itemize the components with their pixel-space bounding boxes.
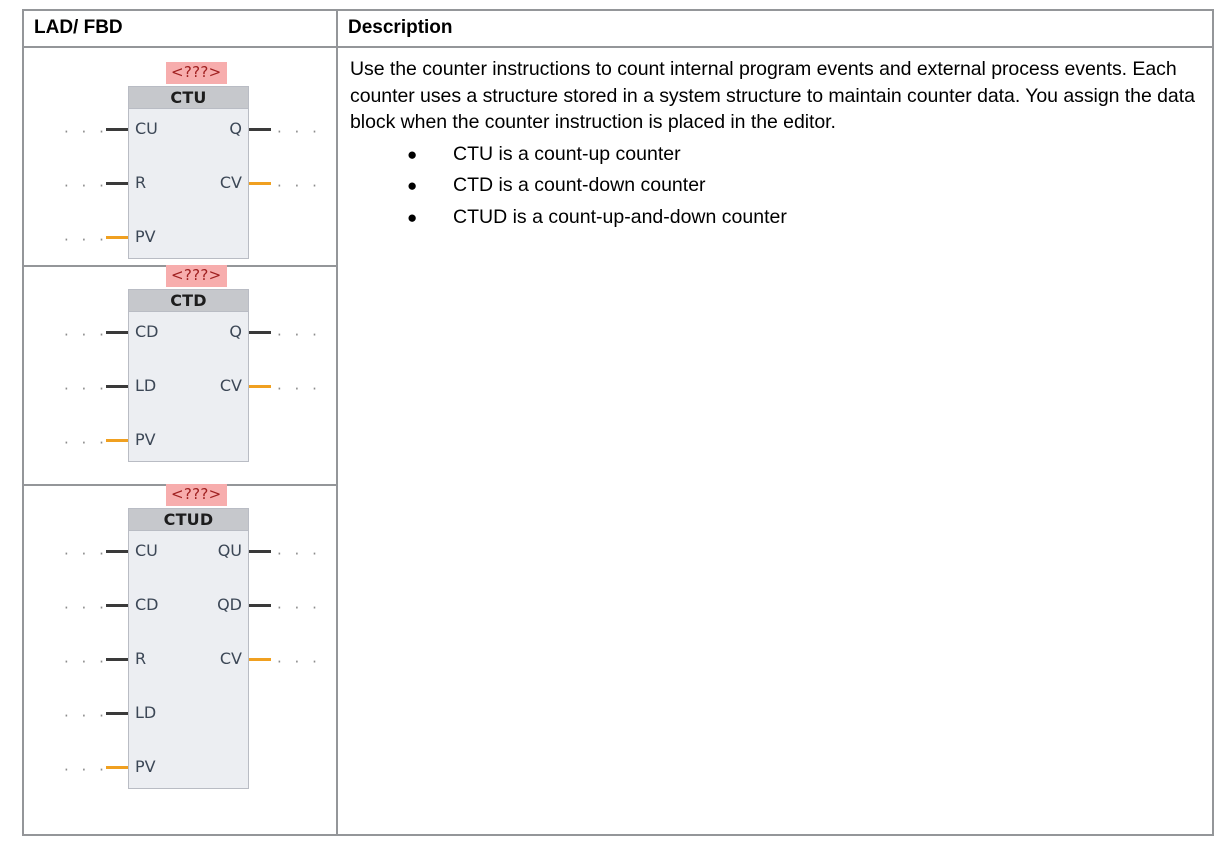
pin-label-cu: CU (135, 121, 158, 137)
block-title: CTD (129, 290, 248, 312)
block-instance-tag[interactable]: <???> (166, 62, 227, 84)
table-row-ctu: <???>CTUCU· · ·R· · ·PV· · ·Q· · ·CV· · … (24, 47, 1212, 266)
table-header-row: LAD/ FBD Description (24, 11, 1212, 47)
block-title: CTU (129, 87, 248, 109)
connection-leader-dots: · · · (277, 184, 321, 188)
counter-type-list-item: ●CTD is a count-down counter (350, 170, 1198, 202)
bullet-icon: ● (407, 170, 417, 202)
pin-label-pv: PV (135, 229, 156, 245)
block-instance-tag[interactable]: <???> (166, 484, 227, 506)
lad-cell-ctud: <???>CTUDCU· · ·CD· · ·R· · ·LD· · ·PV· … (24, 485, 337, 834)
pin-label-qu: QU (218, 543, 242, 559)
counter-type-list-item: ●CTUD is a count-up-and-down counter (350, 202, 1198, 234)
pin-label-q: Q (229, 324, 242, 340)
pin-label-r: R (135, 175, 146, 191)
pin-connector-cu[interactable] (106, 550, 128, 553)
connection-leader-dots: · · · (64, 184, 108, 188)
connection-leader-dots: · · · (277, 387, 321, 391)
pin-connector-cv[interactable] (249, 182, 271, 185)
connection-leader-dots: · · · (64, 130, 108, 134)
pin-label-cd: CD (135, 597, 159, 613)
pin-connector-r[interactable] (106, 182, 128, 185)
pin-connector-r[interactable] (106, 658, 128, 661)
function-block-ctud: <???>CTUDCU· · ·CD· · ·R· · ·LD· · ·PV· … (24, 486, 337, 834)
connection-leader-dots: · · · (277, 333, 321, 337)
pin-connector-ld[interactable] (106, 385, 128, 388)
pin-connector-qd[interactable] (249, 604, 271, 607)
pin-label-q: Q (229, 121, 242, 137)
pin-connector-cv[interactable] (249, 658, 271, 661)
lad-cell-ctu: <???>CTUCU· · ·R· · ·PV· · ·Q· · ·CV· · … (24, 47, 337, 266)
connection-leader-dots: · · · (277, 552, 321, 556)
counter-type-list: ●CTU is a count-up counter●CTD is a coun… (350, 139, 1198, 234)
bullet-icon: ● (407, 139, 417, 171)
block-title: CTUD (129, 509, 248, 531)
counter-type-label: CTUD is a count-up-and-down counter (453, 206, 787, 228)
pin-connector-cu[interactable] (106, 128, 128, 131)
pin-label-cu: CU (135, 543, 158, 559)
pin-connector-pv[interactable] (106, 236, 128, 239)
connection-leader-dots: · · · (64, 387, 108, 391)
description-cell: Use the counter instructions to count in… (337, 47, 1212, 834)
column-header-lad-fbd: LAD/ FBD (24, 11, 337, 47)
pin-label-cv: CV (220, 651, 242, 667)
pin-label-cd: CD (135, 324, 159, 340)
pin-connector-cd[interactable] (106, 604, 128, 607)
pin-connector-q[interactable] (249, 331, 271, 334)
connection-leader-dots: · · · (277, 130, 321, 134)
pin-connector-pv[interactable] (106, 439, 128, 442)
page-root: LAD/ FBD Description <???>CTUCU· · ·R· ·… (0, 0, 1228, 851)
pin-label-pv: PV (135, 759, 156, 775)
connection-leader-dots: · · · (277, 660, 321, 664)
connection-leader-dots: · · · (64, 714, 108, 718)
pin-label-r: R (135, 651, 146, 667)
pin-label-pv: PV (135, 432, 156, 448)
instruction-reference-table: LAD/ FBD Description <???>CTUCU· · ·R· ·… (22, 9, 1214, 836)
lad-cell-ctd: <???>CTDCD· · ·LD· · ·PV· · ·Q· · ·CV· ·… (24, 266, 337, 485)
pin-connector-qu[interactable] (249, 550, 271, 553)
function-block-ctu: <???>CTUCU· · ·R· · ·PV· · ·Q· · ·CV· · … (24, 48, 337, 265)
connection-leader-dots: · · · (64, 660, 108, 664)
connection-leader-dots: · · · (64, 606, 108, 610)
pin-label-ld: LD (135, 705, 156, 721)
pin-label-cv: CV (220, 175, 242, 191)
pin-label-qd: QD (217, 597, 242, 613)
pin-connector-ld[interactable] (106, 712, 128, 715)
pin-connector-q[interactable] (249, 128, 271, 131)
connection-leader-dots: · · · (64, 768, 108, 772)
pin-label-ld: LD (135, 378, 156, 394)
function-block-ctd: <???>CTDCD· · ·LD· · ·PV· · ·Q· · ·CV· ·… (24, 267, 337, 484)
column-header-description: Description (337, 11, 1212, 47)
bullet-icon: ● (407, 202, 417, 234)
pin-label-cv: CV (220, 378, 242, 394)
pin-connector-pv[interactable] (106, 766, 128, 769)
connection-leader-dots: · · · (64, 441, 108, 445)
block-instance-tag[interactable]: <???> (166, 265, 227, 287)
counter-type-label: CTU is a count-up counter (453, 143, 681, 165)
pin-connector-cd[interactable] (106, 331, 128, 334)
connection-leader-dots: · · · (277, 606, 321, 610)
connection-leader-dots: · · · (64, 238, 108, 242)
connection-leader-dots: · · · (64, 552, 108, 556)
description-paragraph: Use the counter instructions to count in… (350, 56, 1198, 136)
connection-leader-dots: · · · (64, 333, 108, 337)
pin-connector-cv[interactable] (249, 385, 271, 388)
counter-type-list-item: ●CTU is a count-up counter (350, 139, 1198, 171)
counter-type-label: CTD is a count-down counter (453, 174, 706, 196)
